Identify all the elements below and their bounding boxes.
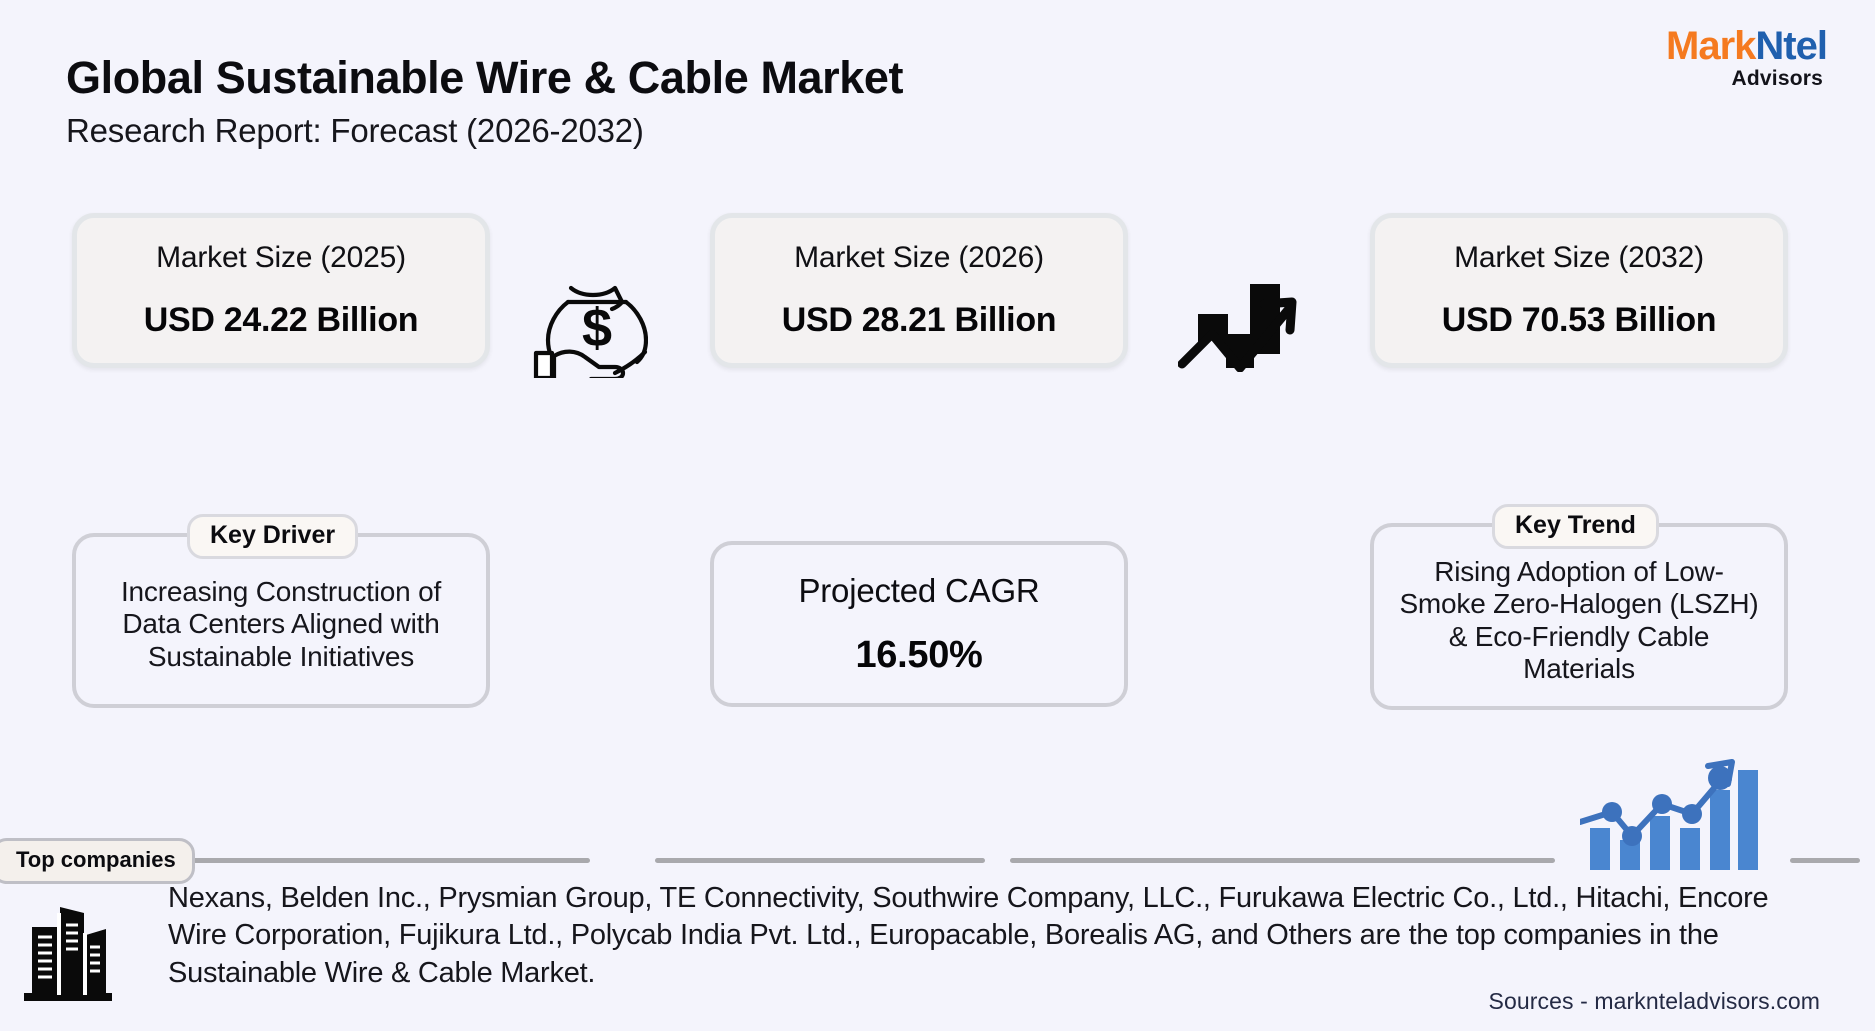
divider-segment-2 bbox=[655, 858, 985, 863]
logo-mark-text: Mark bbox=[1666, 24, 1755, 68]
divider-segment-1 bbox=[150, 858, 590, 863]
key-driver-chip: Key Driver bbox=[187, 514, 358, 559]
office-buildings-icon bbox=[20, 893, 116, 1008]
divider-segment-4 bbox=[1790, 858, 1860, 863]
market-size-2032-card: Market Size (2032) USD 70.53 Billion bbox=[1370, 213, 1788, 368]
brand-logo[interactable]: MarkNtel Advisors bbox=[1666, 26, 1827, 89]
market-size-2026-value: USD 28.21 Billion bbox=[782, 301, 1057, 340]
growth-chart-icon bbox=[1178, 272, 1306, 377]
top-companies-text: Nexans, Belden Inc., Prysmian Group, TE … bbox=[168, 880, 1828, 992]
logo-wordmark: MarkNtel bbox=[1666, 26, 1827, 66]
divider-segment-3 bbox=[1010, 858, 1555, 863]
logo-ntel-text: Ntel bbox=[1755, 24, 1827, 68]
page-title: Global Sustainable Wire & Cable Market bbox=[66, 52, 903, 104]
top-companies-chip: Top companies bbox=[0, 838, 195, 884]
key-driver-text: Increasing Construction of Data Centers … bbox=[76, 576, 486, 673]
key-trend-chip: Key Trend bbox=[1492, 504, 1659, 549]
projected-cagr-value: 16.50% bbox=[855, 634, 982, 677]
page-subtitle: Research Report: Forecast (2026-2032) bbox=[66, 112, 644, 150]
market-size-2025-label: Market Size (2025) bbox=[156, 241, 406, 275]
market-size-2032-label: Market Size (2032) bbox=[1454, 241, 1704, 275]
market-size-2026-label: Market Size (2026) bbox=[794, 241, 1044, 275]
infographic-page: Global Sustainable Wire & Cable Market R… bbox=[0, 0, 1875, 1031]
projected-cagr-card: Projected CAGR 16.50% bbox=[710, 541, 1128, 707]
key-driver-card: Key Driver Increasing Construction of Da… bbox=[72, 533, 490, 708]
market-size-2032-value: USD 70.53 Billion bbox=[1442, 301, 1717, 340]
key-trend-card: Key Trend Rising Adoption of Low-Smoke Z… bbox=[1370, 523, 1788, 710]
market-size-2026-card: Market Size (2026) USD 28.21 Billion bbox=[710, 213, 1128, 368]
market-size-2025-card: Market Size (2025) USD 24.22 Billion bbox=[72, 213, 490, 368]
logo-tagline: Advisors bbox=[1666, 68, 1823, 89]
sources-label: Sources - marknteladvisors.com bbox=[1489, 988, 1821, 1015]
svg-text:$: $ bbox=[582, 298, 612, 358]
mini-bar-chart-icon bbox=[1580, 750, 1758, 877]
projected-cagr-label: Projected CAGR bbox=[798, 572, 1039, 610]
money-bag-icon: $ bbox=[530, 268, 648, 383]
market-size-2025-value: USD 24.22 Billion bbox=[144, 301, 419, 340]
key-trend-text: Rising Adoption of Low-Smoke Zero-Haloge… bbox=[1374, 556, 1784, 686]
